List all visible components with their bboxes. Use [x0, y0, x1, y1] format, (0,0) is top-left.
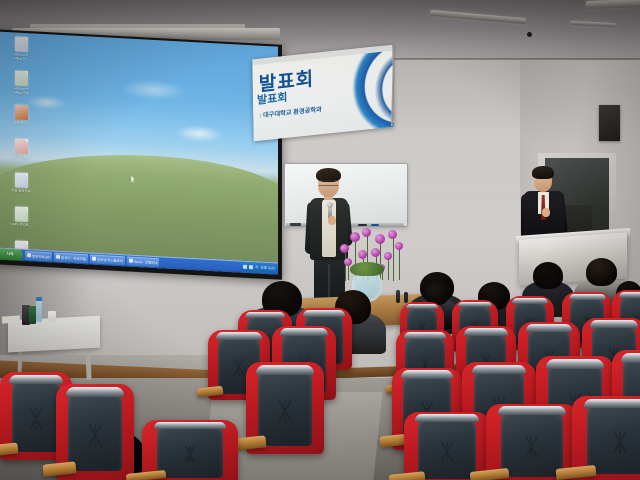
seat-chrome-trim [245, 312, 285, 319]
seat-chrome-trim [256, 365, 314, 375]
auditorium-seat[interactable] [404, 412, 490, 480]
seat-armrest [389, 471, 426, 480]
seat-chrome-trim [498, 406, 566, 415]
seat-back-panel [418, 417, 476, 479]
seat-chrome-trim [9, 375, 62, 385]
seat-chrome-trim [584, 399, 640, 408]
seat-chrome-trim [590, 320, 637, 328]
seat-chrome-trim [621, 353, 640, 363]
seat-emblem [612, 431, 628, 453]
seat-chrome-trim [404, 332, 447, 339]
seat-back-panel [501, 410, 564, 477]
auditorium-seating [0, 0, 640, 480]
seat-chrome-trim [464, 328, 508, 335]
seat-chrome-trim [512, 298, 548, 304]
seat-chrome-trim [154, 422, 225, 429]
seat-emblem [182, 446, 198, 462]
seat-back-panel [157, 424, 222, 478]
seat-chrome-trim [526, 324, 572, 332]
auditorium-presentation-photo: Microsoft Office 문...Microsoft Office 엑셀… [0, 0, 640, 480]
seat-chrome-trim [458, 302, 492, 308]
seat-chrome-trim [546, 359, 604, 369]
seat-chrome-trim [66, 387, 124, 398]
seat-emblem [279, 399, 292, 422]
seat-chrome-trim [415, 414, 479, 422]
seat-chrome-trim [216, 332, 262, 340]
seat-chrome-trim [401, 370, 453, 379]
seat-emblem [30, 408, 42, 430]
seat-chrome-trim [472, 365, 527, 374]
seat-back-panel [68, 391, 121, 472]
seat-chrome-trim [619, 292, 640, 298]
seat-chrome-trim [280, 328, 327, 336]
seat-back-panel [587, 402, 640, 474]
seat-chrome-trim [569, 294, 606, 300]
seat-emblem [89, 423, 102, 447]
seat-emblem [524, 436, 539, 456]
seat-chrome-trim [303, 310, 344, 317]
seat-back-panel [258, 368, 311, 445]
seat-emblem [440, 442, 454, 461]
seat-emblem [234, 358, 244, 376]
seat-back-panel [12, 378, 61, 452]
seat-chrome-trim [406, 304, 439, 310]
